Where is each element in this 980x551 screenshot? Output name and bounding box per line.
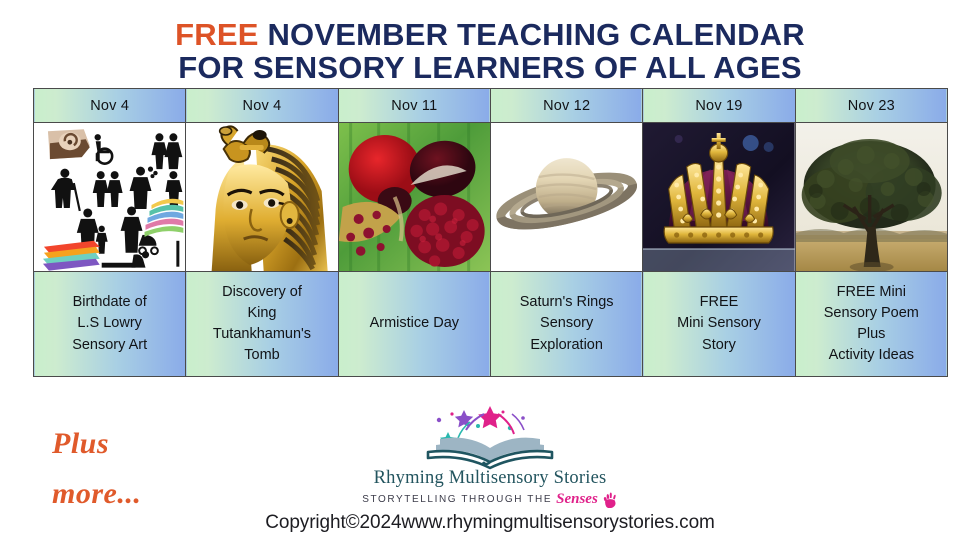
open-book-with-sparkles-icon bbox=[340, 404, 640, 470]
plus-text: Plus bbox=[52, 428, 252, 460]
title-line-1: FREE NOVEMBER TEACHING CALENDAR bbox=[0, 18, 980, 51]
calendar-image-row bbox=[34, 123, 948, 272]
teaching-calendar-table: Nov 4 Nov 4 Nov 11 Nov 12 Nov 19 Nov 23 bbox=[33, 88, 948, 377]
caption-cell-4: Saturn's RingsSensoryExploration bbox=[490, 272, 642, 377]
royal-crown-icon bbox=[643, 123, 794, 271]
more-text: more... bbox=[52, 478, 252, 510]
image-cell-saturn bbox=[490, 123, 642, 272]
caption-cell-3: Armistice Day bbox=[338, 272, 490, 377]
date-header-cell-1: Nov 4 bbox=[34, 89, 186, 123]
date-header-cell-5: Nov 19 bbox=[643, 89, 795, 123]
handprint-icon bbox=[602, 491, 618, 508]
image-cell-oak-tree bbox=[795, 123, 947, 272]
oak-tree-icon bbox=[796, 123, 947, 271]
date-header-cell-6: Nov 23 bbox=[795, 89, 947, 123]
date-header-cell-4: Nov 12 bbox=[490, 89, 642, 123]
calendar-caption-row: Birthdate ofL.S LowrySensory Art Discove… bbox=[34, 272, 948, 377]
logo-tagline-accent: Senses bbox=[556, 491, 598, 508]
brand-logo: Rhyming Multisensory Stories STORYTELLIN… bbox=[340, 404, 640, 508]
caption-cell-5: FREEMini SensoryStory bbox=[643, 272, 795, 377]
disability-pictograms-collage-icon bbox=[34, 123, 185, 271]
poppy-artwork-icon bbox=[339, 123, 490, 271]
image-cell-poppy-artwork bbox=[338, 123, 490, 272]
logo-name: Rhyming Multisensory Stories bbox=[340, 468, 640, 489]
image-cell-disability-pictograms bbox=[34, 123, 186, 272]
date-header-cell-2: Nov 4 bbox=[186, 89, 338, 123]
logo-tagline: STORYTELLING THROUGH THE bbox=[362, 494, 552, 505]
copyright-text: Copyright©2024www.rhymingmultisensorysto… bbox=[0, 512, 980, 534]
caption-cell-6: FREE MiniSensory PoemPlusActivity Ideas bbox=[795, 272, 947, 377]
caption-cell-2: Discovery ofKingTutankhamun'sTomb bbox=[186, 272, 338, 377]
title-free-word: FREE bbox=[175, 17, 258, 52]
title-line-1-rest: NOVEMBER TEACHING CALENDAR bbox=[259, 17, 805, 52]
title-line-2: FOR SENSORY LEARNERS OF ALL AGES bbox=[0, 51, 980, 84]
caption-cell-1: Birthdate ofL.S LowrySensory Art bbox=[34, 272, 186, 377]
image-cell-tutankhamun-mask bbox=[186, 123, 338, 272]
saturn-planet-icon bbox=[491, 123, 642, 271]
calendar-date-row: Nov 4 Nov 4 Nov 11 Nov 12 Nov 19 Nov 23 bbox=[34, 89, 948, 123]
date-header-cell-3: Nov 11 bbox=[338, 89, 490, 123]
logo-tagline-row: STORYTELLING THROUGH THE Senses bbox=[340, 491, 640, 508]
tutankhamun-gold-mask-icon bbox=[186, 123, 337, 271]
page-title: FREE NOVEMBER TEACHING CALENDAR FOR SENS… bbox=[0, 18, 980, 85]
image-cell-royal-crown bbox=[643, 123, 795, 272]
